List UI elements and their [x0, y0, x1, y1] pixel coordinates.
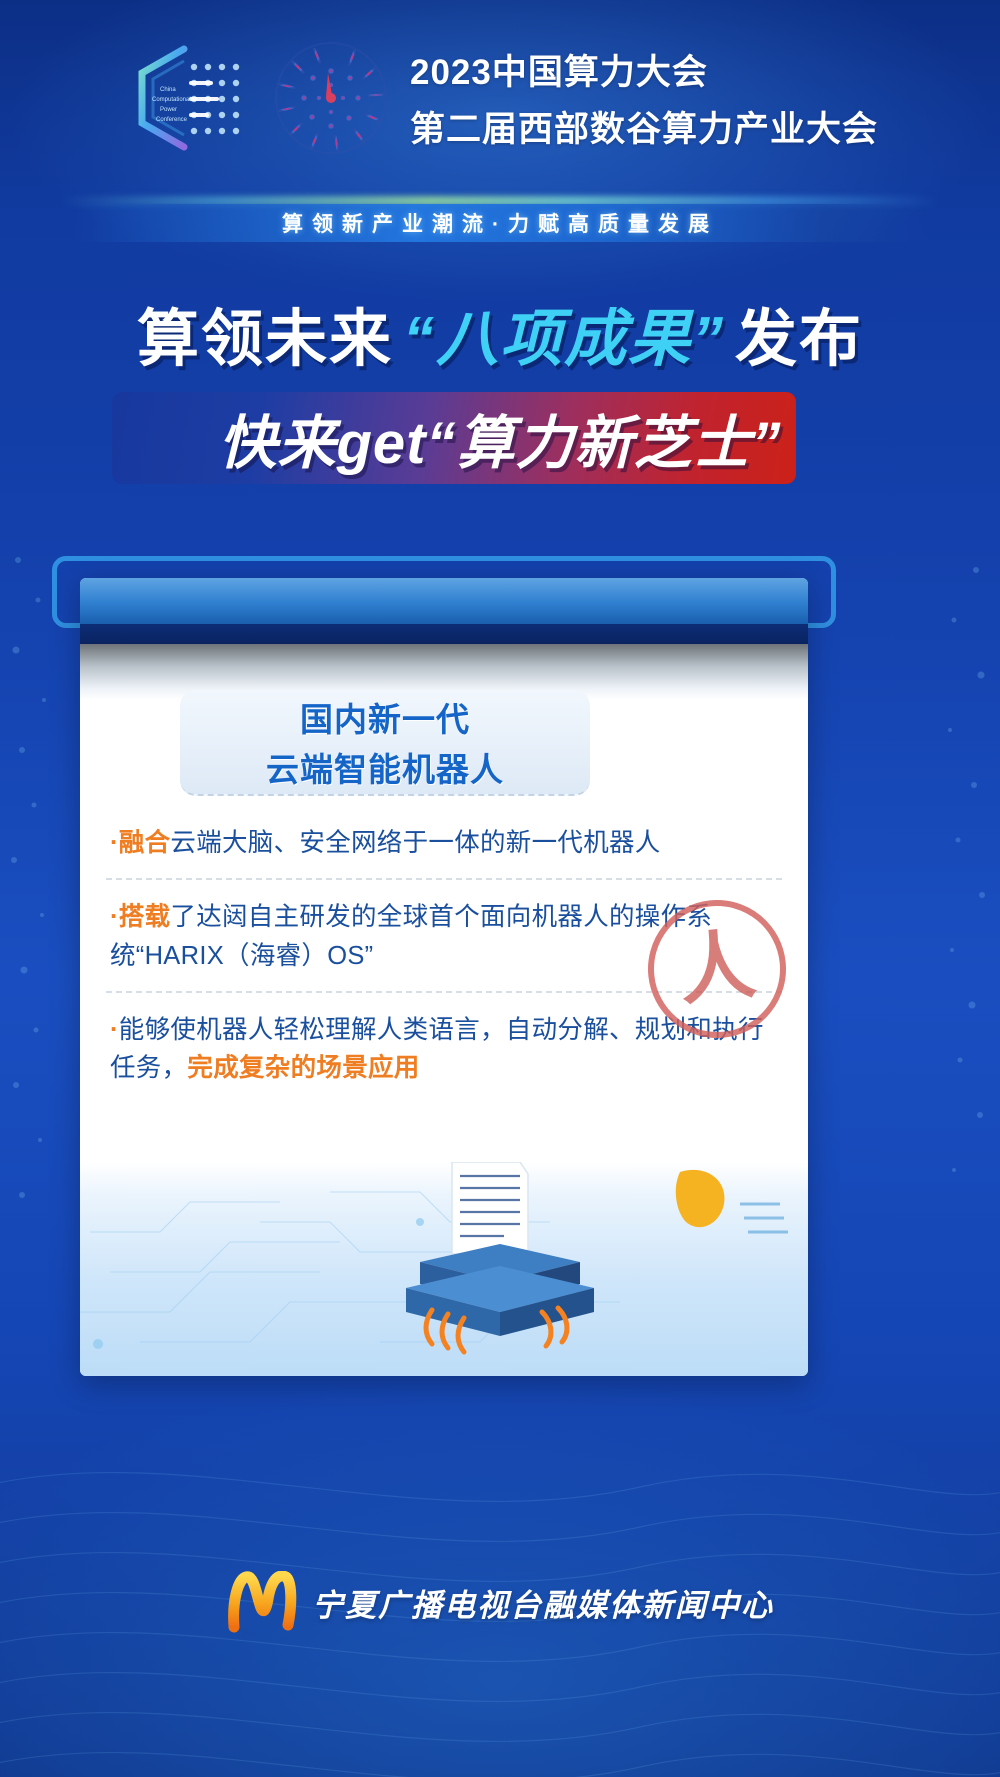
headline-line2-wrapper: 快来get“算力新芝士”: [0, 392, 1000, 484]
bullet-tail-highlight: 完成复杂的场景应用: [187, 1054, 419, 1082]
card-bullet-1: ·融合云端大脑、安全网络于一体的新一代机器人: [106, 806, 782, 878]
svg-text:China: China: [160, 87, 176, 93]
bullet-text: 了达闼自主研发的全球首个面向机器人的操作系统“HARIX（海睿）OS”: [110, 903, 712, 969]
card-topbar: [80, 578, 808, 624]
ccpc-hexagon-logo: China Computational Power Conference: [122, 39, 254, 157]
main-headline: 算领未来 “八项成果” 发布 快来get“算力新芝士”: [0, 288, 1000, 484]
bullet-marker: ·: [110, 903, 119, 931]
headline-part3: 发布: [735, 288, 863, 378]
bullet-highlight: 融合: [119, 829, 171, 857]
page-footer: 宁夏广播电视台融媒体新闻中心: [0, 1527, 1000, 1777]
bullet-highlight: 搭载: [119, 903, 171, 931]
bullet-marker: ·: [110, 829, 119, 857]
headline-part1: 算领未来: [137, 288, 393, 378]
slogan-text: 算领新产业潮流·力赋高质量发展: [282, 208, 718, 238]
conference-title-line1: 2023中国算力大会: [410, 44, 878, 95]
card-sheet: 国内新一代 云端智能机器人 ·融合云端大脑、安全网络于一体的新一代机器人 ·搭载…: [80, 578, 808, 1376]
slogan-strip: 算领新产业潮流·力赋高质量发展: [0, 196, 1000, 246]
server-document-illustration: [80, 1162, 808, 1376]
svg-text:Power: Power: [160, 107, 177, 113]
conference-title-line2: 第二届西部数谷算力产业大会: [410, 101, 878, 152]
decorative-dots-right: [926, 540, 996, 1240]
card-illustration: [80, 1162, 808, 1376]
card-title-line1: 国内新一代: [300, 693, 470, 741]
ningxia-tv-logo-icon: [226, 1571, 298, 1633]
conference-logos: China Computational Power Conference: [122, 37, 392, 159]
headline-subtitle: 快来get“算力新芝士”: [218, 396, 781, 480]
slogan-bar: 算领新产业潮流·力赋高质量发展: [75, 204, 925, 242]
conference-title: 2023中国算力大会 第二届西部数谷算力产业大会: [410, 44, 878, 152]
bullet-marker: ·: [110, 1016, 119, 1044]
footer-brand-text: 宁夏广播电视台融媒体新闻中心: [312, 1580, 774, 1625]
card-topbar-dark: [80, 624, 808, 644]
card-title-pill: 国内新一代 云端智能机器人: [180, 690, 590, 796]
headline-line1: 算领未来 “八项成果” 发布: [0, 288, 1000, 378]
svg-text:Conference: Conference: [156, 117, 188, 123]
headline-part2-accent: “八项成果”: [403, 288, 725, 378]
card-bullet-3: ·能够使机器人轻松理解人类语言，自动分解、规划和执行任务，完成复杂的场景应用: [106, 991, 782, 1104]
headline-line2: 快来get“算力新芝士”: [0, 392, 1000, 484]
bullet-text: 云端大脑、安全网络于一体的新一代机器人: [170, 829, 660, 857]
result-card: 国内新一代 云端智能机器人 ·融合云端大脑、安全网络于一体的新一代机器人 ·搭载…: [52, 556, 836, 1376]
page-header: China Computational Power Conference: [0, 0, 1000, 196]
card-bullet-2: ·搭载了达闼自主研发的全球首个面向机器人的操作系统“HARIX（海睿）OS”: [106, 878, 782, 991]
card-title-line2: 云端智能机器人: [266, 743, 504, 791]
svg-text:Computational: Computational: [152, 97, 191, 103]
radial-fan-logo: [270, 37, 392, 159]
card-bullet-list: ·融合云端大脑、安全网络于一体的新一代机器人 ·搭载了达闼自主研发的全球首个面向…: [80, 806, 808, 1103]
footer-brand: 宁夏广播电视台融媒体新闻中心: [0, 1571, 1000, 1633]
